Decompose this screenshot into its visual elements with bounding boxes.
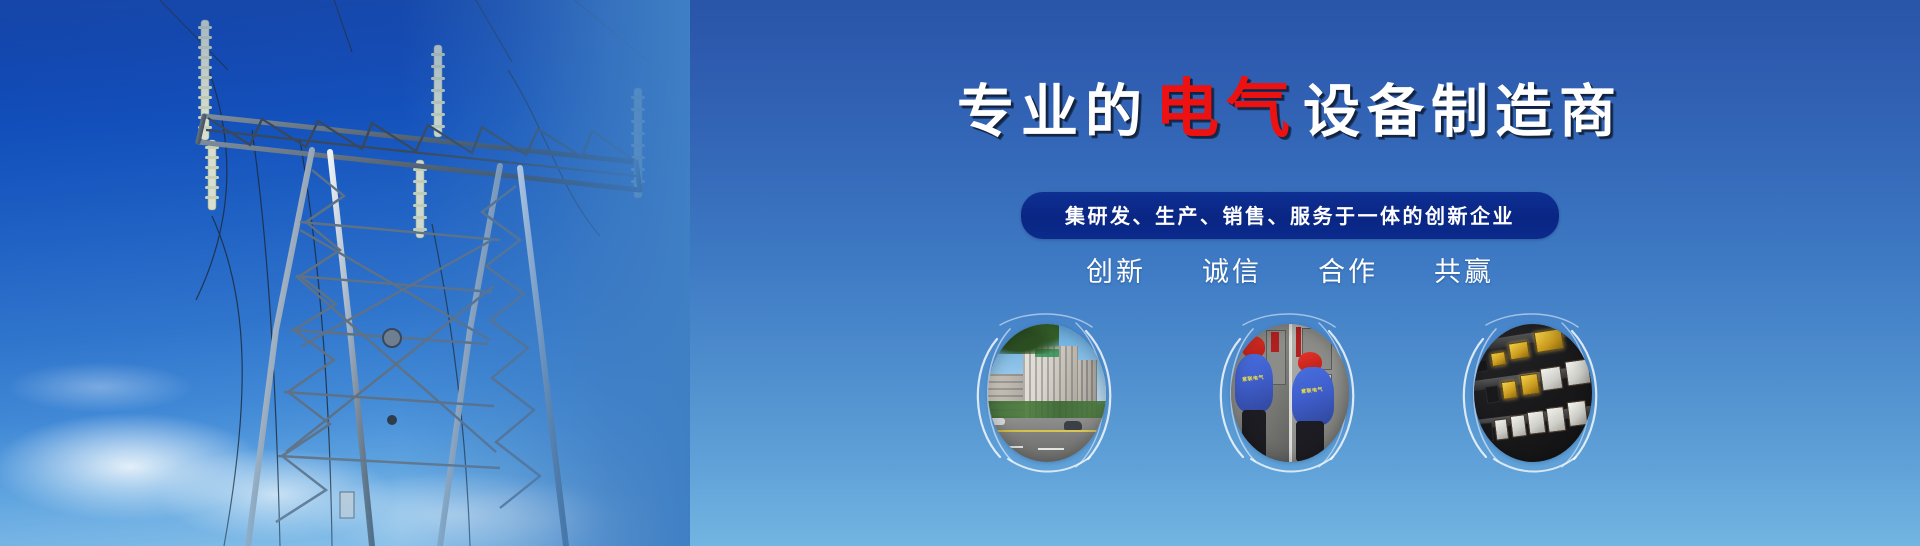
headline-accent: 电气 bbox=[1149, 73, 1303, 147]
keyword-item: 合作 bbox=[1318, 250, 1378, 289]
keyword-item: 诚信 bbox=[1202, 250, 1262, 289]
keyword-item: 共赢 bbox=[1434, 250, 1494, 289]
keyword-item: 创新 bbox=[1086, 250, 1146, 289]
headline-part-2: 设备制造商 bbox=[1303, 79, 1623, 145]
hero-banner: 专业的电气设备制造商 集研发、生产、销售、服务于一体的创新企业 创新 诚信 合作… bbox=[0, 0, 1920, 546]
photo-circle-office-building[interactable] bbox=[978, 318, 1116, 468]
headline-part-1: 专业的 bbox=[957, 79, 1149, 145]
headline: 专业的电气设备制造商 bbox=[660, 78, 1920, 142]
photo-circle-workers[interactable]: 意联电气 意联电气 bbox=[1221, 318, 1359, 468]
photo-circle-row: 意联电气 意联电气 bbox=[660, 318, 1920, 468]
keyword-row: 创新 诚信 合作 共赢 bbox=[660, 250, 1920, 289]
photo-blend-fade bbox=[0, 0, 690, 546]
subtitle-pill-wrapper: 集研发、生产、销售、服务于一体的创新企业 bbox=[660, 192, 1920, 239]
photo-office-building bbox=[988, 324, 1106, 462]
hero-photo-transmission-tower bbox=[0, 0, 690, 546]
photo-certificate-wall bbox=[1474, 324, 1592, 462]
banner-content: 专业的电气设备制造商 集研发、生产、销售、服务于一体的创新企业 创新 诚信 合作… bbox=[660, 0, 1920, 546]
photo-workers-switchgear: 意联电气 意联电气 bbox=[1231, 324, 1349, 462]
subtitle-pill: 集研发、生产、销售、服务于一体的创新企业 bbox=[1021, 192, 1559, 239]
photo-circle-certificates[interactable] bbox=[1464, 318, 1602, 468]
